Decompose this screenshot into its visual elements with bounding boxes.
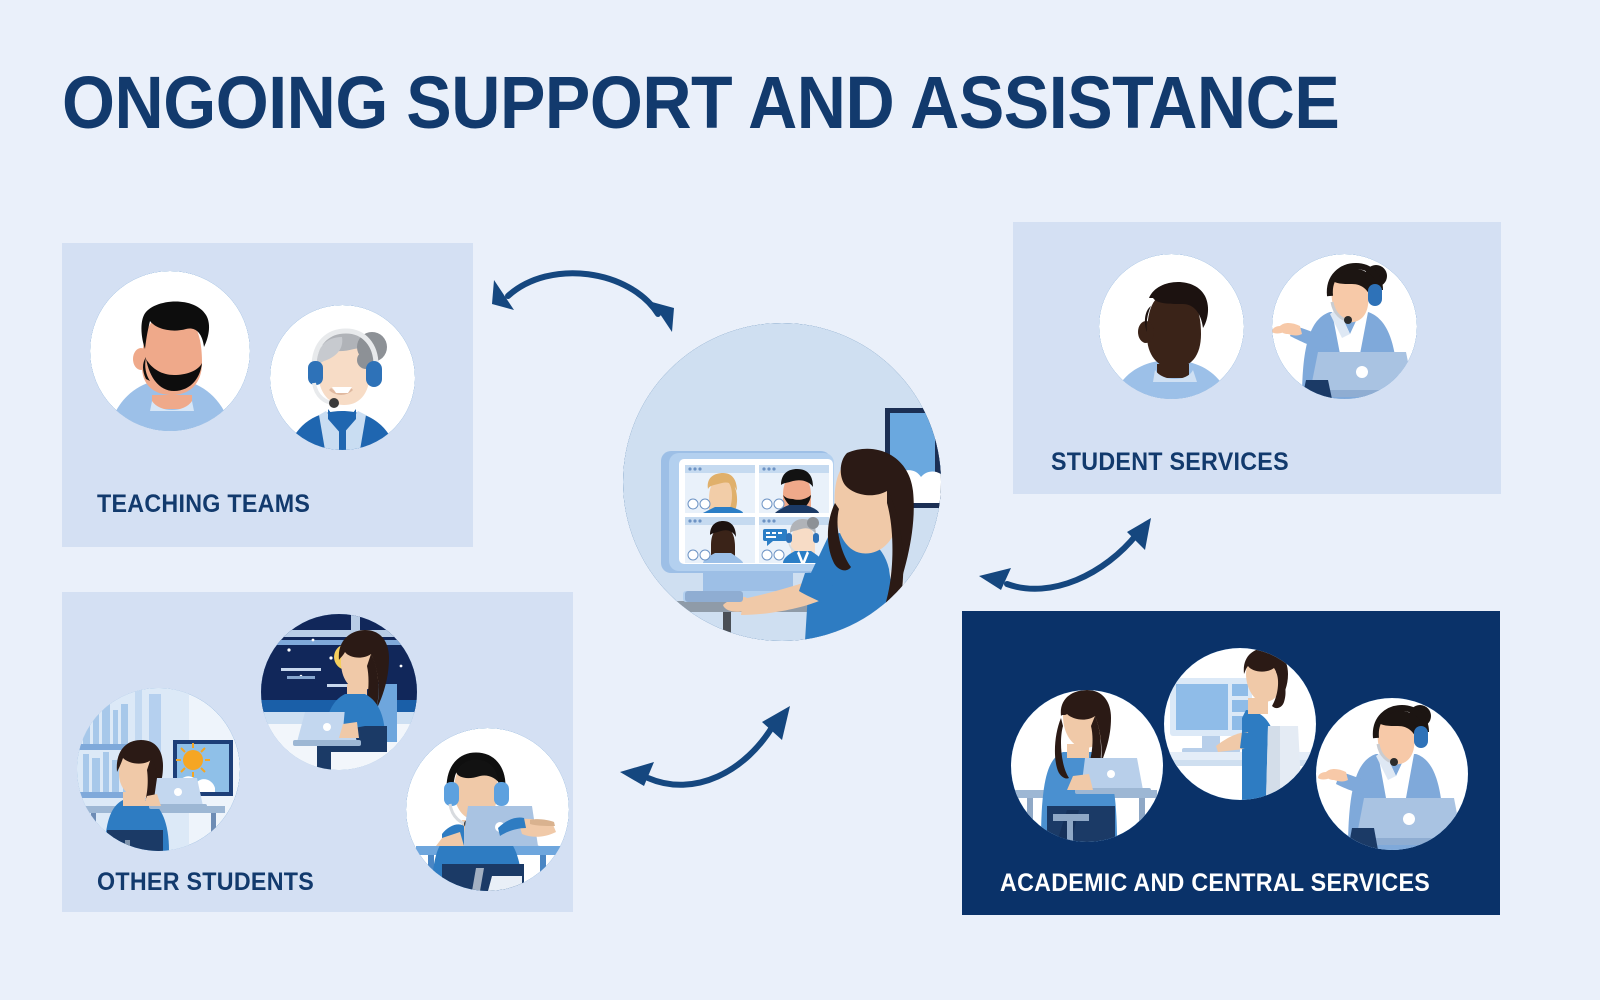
panel-label-academic-central-services: ACADEMIC AND CENTRAL SERVICES — [1000, 869, 1430, 898]
arrow-teaching-teams-center — [480, 252, 690, 348]
woman-headset-pointing-scene — [1316, 698, 1468, 850]
student-in-library-scene — [77, 688, 240, 851]
page-title: ONGOING SUPPORT AND ASSISTANCE — [62, 66, 1339, 140]
student-with-headset-scene — [406, 728, 569, 891]
arrow-other-students-center — [604, 676, 804, 798]
woman-headset-laptop-avatar — [1272, 254, 1417, 399]
panel-label-student-services: STUDENT SERVICES — [1051, 448, 1289, 477]
arrow-center-student-services — [965, 490, 1165, 602]
dark-skinned-man-avatar — [1099, 254, 1244, 399]
panel-label-other-students: OTHER STUDENTS — [97, 868, 314, 897]
infographic-canvas: ONGOING SUPPORT AND ASSISTANCE — [0, 0, 1600, 1000]
person-desktop-computer-scene — [1164, 648, 1316, 800]
video-call-illustration — [623, 323, 941, 641]
student-at-night-scene — [261, 614, 417, 770]
grey-haired-woman-headset-avatar — [270, 305, 415, 450]
panel-label-teaching-teams: TEACHING TEAMS — [97, 490, 310, 519]
woman-laptop-desk-scene — [1011, 690, 1163, 842]
bearded-man-avatar — [90, 271, 250, 431]
